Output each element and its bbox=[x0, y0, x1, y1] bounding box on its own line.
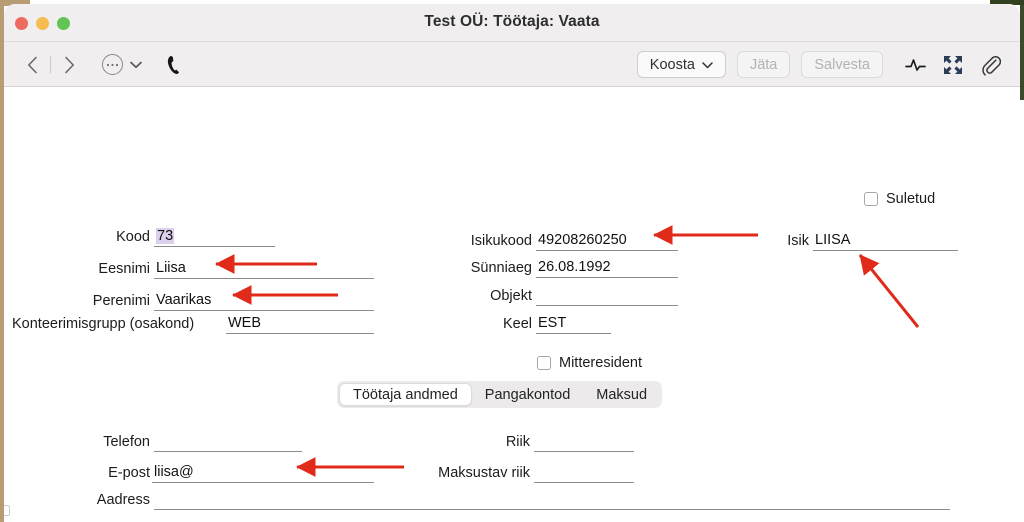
closed-checkbox-label: Suletud bbox=[886, 191, 935, 207]
label-keel: Keel bbox=[384, 316, 532, 332]
label-maksustav-riik: Maksustav riik bbox=[394, 465, 530, 481]
label-kood: Kood bbox=[4, 229, 150, 245]
back-button[interactable] bbox=[17, 50, 47, 80]
toolbar-divider bbox=[50, 56, 51, 73]
label-aadress: Aadress bbox=[24, 492, 150, 508]
tab-maksud[interactable]: Maksud bbox=[583, 383, 660, 406]
tab-bar: Töötaja andmed Pangakontod Maksud bbox=[337, 381, 662, 408]
field-kood[interactable]: 73 bbox=[154, 227, 275, 247]
label-konteerimisgrupp: Konteerimisgrupp (osakond) bbox=[4, 316, 224, 332]
label-riik: Riik bbox=[404, 434, 530, 450]
nonresident-checkbox-row[interactable]: Mitteresident bbox=[537, 355, 642, 371]
label-eesnimi: Eesnimi bbox=[4, 261, 150, 277]
checkbox-suletud[interactable] bbox=[864, 192, 878, 206]
form-body: Suletud Kood 73 Eesnimi Liisa Perenimi V… bbox=[4, 87, 1020, 521]
checkbox-mitteresident[interactable] bbox=[537, 356, 551, 370]
window-left-handle bbox=[4, 505, 10, 516]
field-telefon[interactable] bbox=[154, 432, 302, 452]
nonresident-checkbox-label: Mitteresident bbox=[559, 355, 642, 371]
label-isikukood: Isikukood bbox=[384, 233, 532, 249]
application-window: Test OÜ: Töötaja: Vaata bbox=[0, 0, 1024, 522]
label-perenimi: Perenimi bbox=[4, 293, 150, 309]
label-epost: E-post bbox=[24, 465, 150, 481]
chevron-down-icon[interactable] bbox=[130, 61, 142, 69]
compose-button[interactable]: Koosta bbox=[637, 51, 726, 78]
forward-button[interactable] bbox=[54, 50, 84, 80]
toolbar: Koosta Jäta Salvesta bbox=[4, 42, 1020, 87]
field-maksustav-riik[interactable] bbox=[534, 463, 634, 483]
tab-tootaja-andmed[interactable]: Töötaja andmed bbox=[339, 383, 472, 406]
field-epost[interactable]: liisa@ bbox=[152, 463, 374, 483]
tab-pangakontod[interactable]: Pangakontod bbox=[472, 383, 583, 406]
window-chrome: Test OÜ: Töötaja: Vaata bbox=[4, 4, 1020, 522]
label-synniaeg: Sünniaeg bbox=[384, 260, 532, 276]
field-objekt[interactable] bbox=[536, 286, 678, 306]
save-button[interactable]: Salvesta bbox=[801, 51, 883, 78]
discard-button[interactable]: Jäta bbox=[737, 51, 790, 78]
field-kood-value: 73 bbox=[156, 228, 174, 244]
phone-icon[interactable] bbox=[166, 55, 182, 75]
discard-button-label: Jäta bbox=[750, 57, 777, 73]
arrow-isik bbox=[860, 255, 918, 327]
paperclip-icon[interactable] bbox=[974, 50, 1008, 80]
label-telefon: Telefon bbox=[24, 434, 150, 450]
field-keel[interactable]: EST bbox=[536, 314, 611, 334]
field-aadress-line-1[interactable] bbox=[154, 490, 950, 510]
compose-button-label: Koosta bbox=[650, 57, 695, 73]
field-konteerimisgrupp[interactable]: WEB bbox=[226, 314, 374, 334]
activity-zigzag-icon[interactable] bbox=[898, 50, 932, 80]
field-perenimi[interactable]: Vaarikas bbox=[154, 291, 374, 311]
field-isikukood[interactable]: 49208260250 bbox=[536, 231, 678, 251]
field-isik[interactable]: LIISA bbox=[813, 231, 958, 251]
chevron-down-icon bbox=[702, 57, 713, 73]
field-aadress-line-2[interactable] bbox=[154, 518, 950, 522]
title-bar: Test OÜ: Töötaja: Vaata bbox=[4, 4, 1020, 42]
label-isik: Isik bbox=[739, 233, 809, 249]
window-title: Test OÜ: Töötaja: Vaata bbox=[4, 13, 1020, 31]
label-objekt: Objekt bbox=[384, 288, 532, 304]
field-synniaeg[interactable]: 26.08.1992 bbox=[536, 258, 678, 278]
circle-ellipsis-icon[interactable] bbox=[102, 54, 123, 75]
window-edge-right bbox=[1020, 0, 1024, 100]
field-riik[interactable] bbox=[534, 432, 634, 452]
field-eesnimi[interactable]: Liisa bbox=[154, 259, 374, 279]
closed-checkbox-row[interactable]: Suletud bbox=[864, 191, 935, 207]
expand-arrows-icon[interactable] bbox=[936, 50, 970, 80]
save-button-label: Salvesta bbox=[814, 57, 870, 73]
